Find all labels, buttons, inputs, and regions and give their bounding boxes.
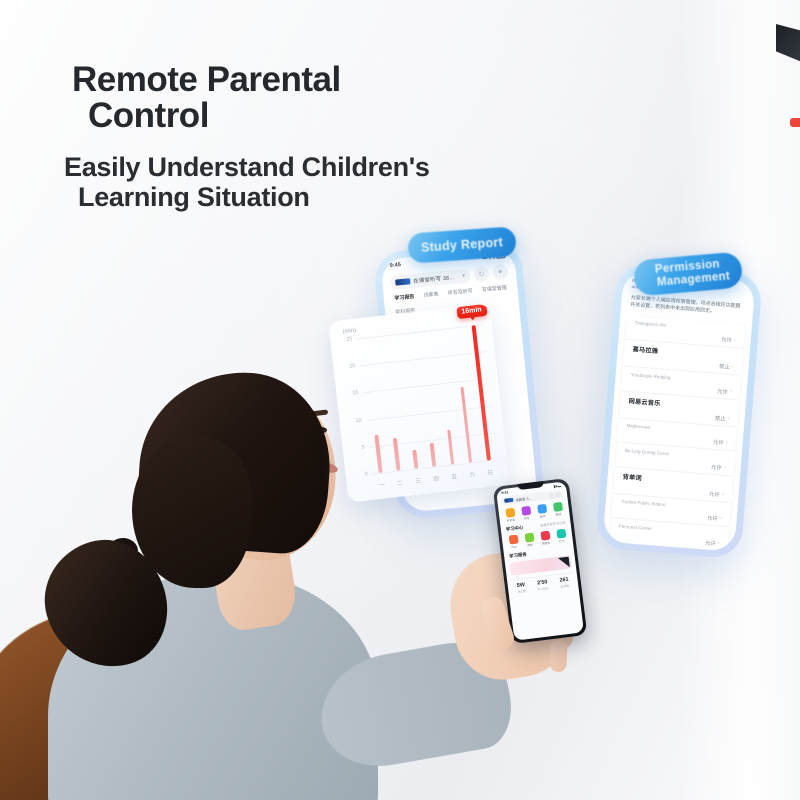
bar-column[interactable] [364, 337, 383, 473]
app-tile[interactable]: 翻译 [550, 501, 566, 517]
y-tick-label: 25 [334, 336, 353, 344]
x-tick-label: 四 [433, 474, 439, 483]
grid-tile-icon[interactable] [548, 492, 554, 498]
bar-column[interactable] [382, 335, 401, 471]
bar-column[interactable] [435, 329, 454, 465]
x-tick-label: 日 [487, 468, 493, 477]
y-tick-label: 15 [340, 390, 359, 398]
permission-status-label: 禁止 [715, 414, 726, 423]
stat-item: 261查词数 [559, 577, 569, 589]
headline-line-2: Control [88, 98, 341, 134]
phone-search-query: 词典笔 S... [515, 495, 532, 502]
chevron-right-icon[interactable]: › [734, 337, 736, 343]
phone-screen: 9:41 ▮▾▬ 词典笔 S... 点读笔听写查词翻译 学习中心 查看全部学习记… [496, 481, 584, 640]
phone-banner-title: 学习报告 [509, 552, 527, 560]
app-label: 错题本 [541, 541, 550, 546]
y-tick-label: 20 [337, 363, 356, 371]
chart-unit-label: (min) [342, 328, 356, 336]
app-tile[interactable]: 点读笔 [502, 507, 518, 523]
bar-column[interactable]: 16min [471, 325, 490, 461]
chevron-right-icon[interactable]: › [722, 491, 724, 497]
status-icons: ▮▾▬ [553, 483, 561, 488]
subtitle-line-2: Learning Situation [78, 182, 430, 212]
x-tick-label: 一 [379, 480, 385, 489]
y-tick-label: 10 [343, 417, 362, 425]
chart-plot-area: 0510152025 16min [356, 324, 498, 474]
study-time-chart-card[interactable]: (min) 0510152025 16min 一二三四五六日 [328, 303, 510, 502]
dictionary-pen-logo-icon [395, 278, 411, 285]
bar-column[interactable] [453, 327, 472, 463]
chevron-right-icon[interactable]: › [732, 364, 734, 370]
finger [549, 640, 567, 673]
x-tick-label: 二 [397, 478, 403, 487]
chevron-down-icon[interactable]: ▾ [462, 272, 465, 278]
bar-column[interactable] [399, 333, 418, 469]
refresh-icon[interactable]: ↻ [473, 266, 489, 282]
app-tile[interactable]: 查词 [534, 503, 550, 519]
app-label: 作业 [511, 545, 517, 550]
app-label: 点读笔 [506, 517, 515, 522]
app-tile[interactable]: 作业 [506, 534, 522, 550]
phone-stats-row: 5W词汇量2'50学习时长261查词数 [510, 572, 575, 594]
app-tile[interactable]: 打卡 [553, 528, 569, 544]
permission-status-label: 允许 [717, 387, 728, 396]
permission-status-label: 允许 [721, 335, 732, 344]
permission-status-label: 允许 [705, 538, 716, 547]
status-time: 9:45 [389, 262, 401, 269]
x-tick-label: 六 [469, 470, 475, 479]
app-icon[interactable] [505, 507, 515, 517]
app-label: 课程 [527, 543, 533, 548]
chevron-right-icon[interactable]: › [726, 440, 728, 446]
app-icon[interactable] [540, 531, 550, 541]
search-query: 在课堂听写 38... [413, 273, 455, 285]
y-tick-label: 5 [346, 444, 365, 452]
app-icon[interactable] [524, 533, 534, 543]
page-title: Remote Parental Control [72, 62, 341, 133]
y-tick-label: 0 [350, 471, 369, 479]
app-tile[interactable]: 课程 [522, 532, 538, 548]
permission-status-label: 允许 [707, 514, 718, 523]
tab-study-report[interactable]: 学习报告 [394, 293, 415, 302]
app-icon[interactable] [508, 535, 518, 545]
app-tile[interactable]: 听写 [518, 505, 534, 521]
tab-dictation[interactable]: 听写及听写 [447, 287, 473, 296]
chart-bar[interactable] [375, 435, 383, 473]
x-tick-label: 五 [451, 472, 457, 481]
chart-bar[interactable] [393, 438, 400, 471]
tab-wordlist[interactable]: 词库表 [423, 291, 439, 299]
mic-icon[interactable]: ● [492, 264, 508, 280]
stat-item: 2'50学习时长 [536, 579, 548, 591]
chart-bar[interactable] [430, 442, 436, 467]
permission-status-label: 允许 [711, 462, 722, 471]
headline-line-1: Remote Parental [72, 62, 341, 98]
banner-corner [558, 556, 570, 568]
chevron-right-icon[interactable]: › [720, 516, 722, 522]
chart-bars: 16min [356, 324, 498, 474]
app-icon[interactable] [537, 503, 547, 513]
app-label: 查词 [539, 514, 545, 519]
status-time: 9:41 [501, 490, 509, 495]
stat-label: 词汇量 [517, 588, 526, 593]
app-label: 翻译 [555, 512, 561, 517]
permission-description: 为家长端个人端应用权限管理，可点击相应功能跟开关设置，若列表中未出现应用则无。 [630, 295, 745, 319]
permission-status-label: 禁止 [719, 362, 730, 371]
app-icon[interactable] [521, 505, 531, 515]
chevron-right-icon[interactable]: › [718, 540, 720, 546]
stat-label: 学习时长 [537, 586, 549, 591]
permission-list[interactable]: Todaigdsns alis允许›喜马拉雅禁止›Youdaogle Reddi… [610, 316, 745, 551]
x-tick-label: 三 [415, 476, 421, 485]
chevron-right-icon[interactable]: › [724, 464, 726, 470]
subtitle-line-1: Easily Understand Children's [64, 152, 430, 182]
phone-section-more[interactable]: 查看全部学习记录 [540, 520, 566, 528]
permission-phone-device[interactable]: Review Activity Statistics and Managemen… [595, 263, 763, 560]
chart-side-tag [790, 118, 800, 127]
app-label: 听写 [524, 515, 530, 520]
chart-bar[interactable] [460, 387, 472, 463]
chevron-right-icon[interactable]: › [730, 389, 732, 395]
app-label: 打卡 [559, 539, 565, 544]
permission-status-label: 允许 [709, 489, 720, 498]
chevron-right-icon[interactable]: › [727, 416, 729, 422]
stat-item: 5W词汇量 [516, 582, 526, 593]
permission-status-label: 允许 [713, 438, 724, 447]
app-icon[interactable] [556, 529, 566, 539]
app-icon[interactable] [552, 501, 562, 511]
chart-bar[interactable] [471, 325, 490, 461]
chart-bar[interactable] [413, 450, 419, 469]
tablet-corner-shadow [776, 24, 800, 62]
permission-screen: Review Activity Statistics and Managemen… [603, 270, 756, 552]
page-subtitle: Easily Understand Children's Learning Si… [64, 152, 430, 212]
stat-label: 查词数 [560, 583, 569, 588]
chart-tooltip: 16min [456, 304, 487, 319]
chart-bar[interactable] [447, 429, 454, 465]
phone-search-tiles[interactable] [548, 492, 560, 498]
search-input[interactable]: 在课堂听写 38... ▾ [390, 268, 471, 290]
dictionary-pen-logo-icon [504, 498, 513, 503]
tab-class-manage[interactable]: 写课堂管理 [481, 284, 507, 293]
bar-column[interactable] [417, 331, 436, 467]
grid-tile-icon[interactable] [555, 492, 561, 498]
phone-section-title: 学习中心 [506, 524, 524, 532]
app-tile[interactable]: 错题本 [537, 530, 553, 546]
